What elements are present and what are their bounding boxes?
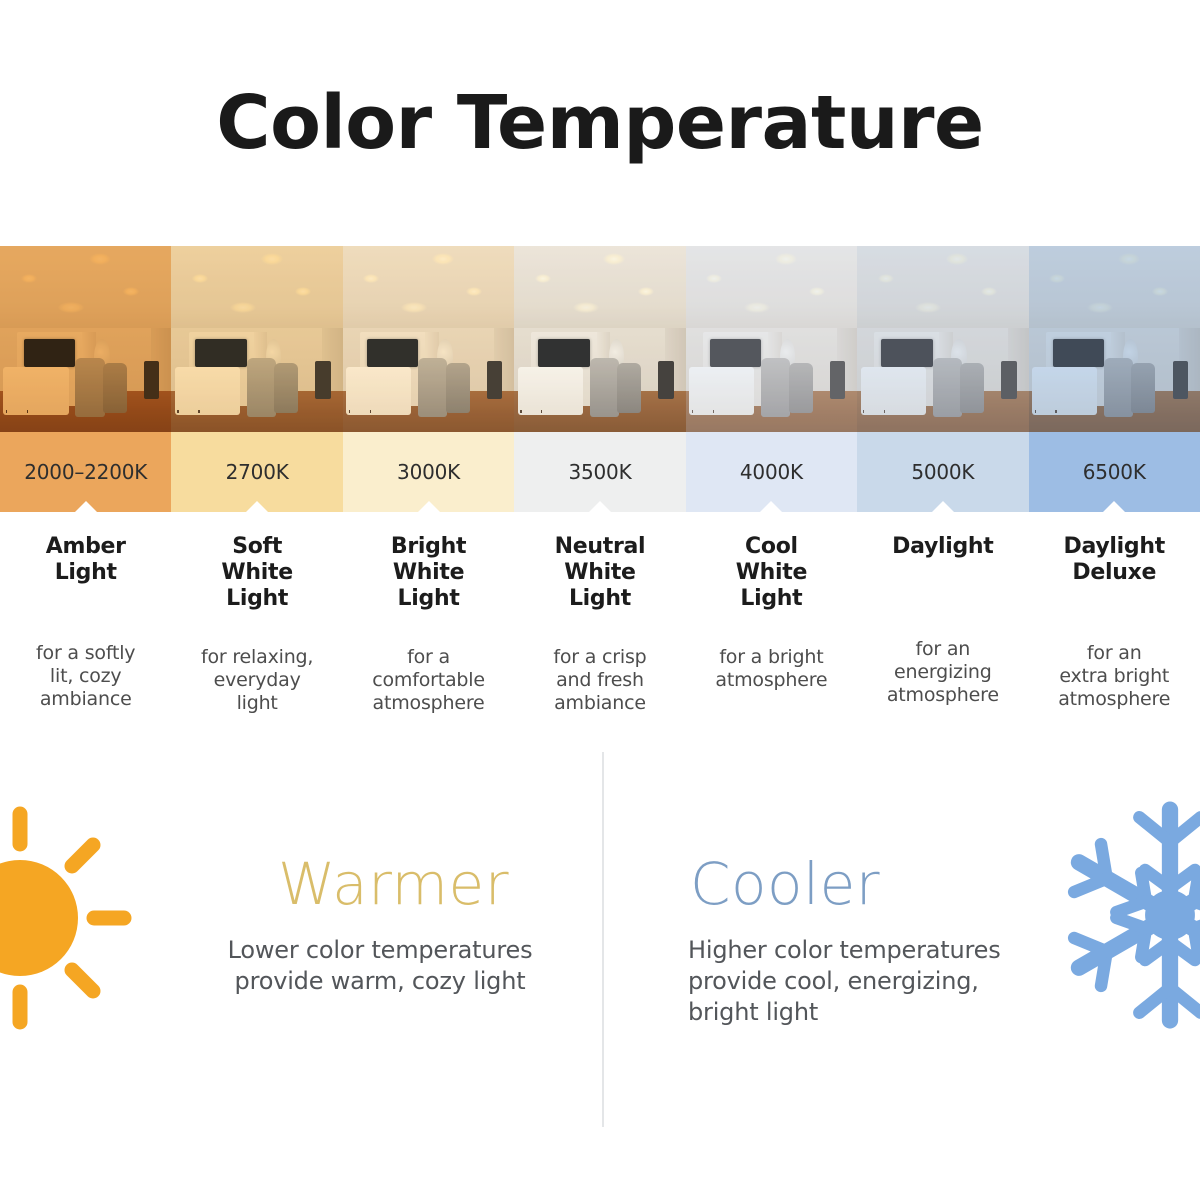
description-column: SoftWhiteLightfor relaxing,everydaylight [171, 512, 342, 750]
light-description-text: for acomfortableatmosphere [372, 646, 485, 716]
warmer-body-text: Lower color temperaturesprovide warm, co… [200, 935, 560, 997]
kelvin-swatch[interactable]: 2000–2200K [0, 432, 171, 512]
swatch-notch-marker [760, 501, 782, 512]
swatch-notch-marker [75, 501, 97, 512]
kelvin-label: 5000K [911, 460, 974, 484]
kelvin-swatch[interactable]: 6500K [1029, 432, 1200, 512]
kelvin-label: 2000–2200K [24, 460, 147, 484]
light-name-label: CoolWhiteLight [736, 534, 807, 612]
kelvin-label: 3500K [568, 460, 631, 484]
kelvin-swatch[interactable]: 3500K [514, 432, 685, 512]
kelvin-swatch[interactable]: 2700K [171, 432, 342, 512]
page-title: Color Temperature [216, 86, 983, 160]
description-column: Daylightfor anenergizingatmosphere [857, 512, 1028, 750]
kelvin-label: 3000K [397, 460, 460, 484]
room-photo-20002200K [0, 246, 171, 432]
light-name-label: SoftWhiteLight [221, 534, 292, 612]
description-column: CoolWhiteLightfor a brightatmosphere [686, 512, 857, 750]
light-description-text: for a softlylit, cozyambiance [36, 642, 135, 712]
description-column: NeutralWhiteLightfor a crispand freshamb… [514, 512, 685, 750]
description-column: AmberLightfor a softlylit, cozyambiance [0, 512, 171, 750]
kelvin-label: 6500K [1083, 460, 1146, 484]
light-name-label: NeutralWhiteLight [555, 534, 646, 612]
description-column: DaylightDeluxefor anextra brightatmosphe… [1029, 512, 1200, 750]
title-bar: Color Temperature [0, 0, 1200, 246]
room-photo-5000K [857, 246, 1028, 432]
room-photo-6500K [1029, 246, 1200, 432]
description-row: AmberLightfor a softlylit, cozyambianceS… [0, 512, 1200, 750]
room-photo-4000K [686, 246, 857, 432]
cooler-body-text: Higher color temperaturesprovide cool, e… [688, 935, 1048, 1029]
sun-icon [0, 800, 138, 1036]
light-name-label: BrightWhiteLight [391, 534, 466, 612]
kelvin-swatch[interactable]: 4000K [686, 432, 857, 512]
warmer-cooler-section: Warmer Lower color temperaturesprovide w… [0, 750, 1200, 1200]
kelvin-swatch[interactable]: 3000K [343, 432, 514, 512]
kelvin-swatch[interactable]: 5000K [857, 432, 1028, 512]
swatch-notch-marker [589, 501, 611, 512]
light-name-label: DaylightDeluxe [1064, 534, 1165, 586]
room-photo-strip [0, 246, 1200, 432]
light-description-text: for relaxing,everydaylight [201, 646, 313, 716]
swatch-notch-marker [932, 501, 954, 512]
light-description-text: for anextra brightatmosphere [1058, 642, 1170, 712]
room-photo-3000K [343, 246, 514, 432]
kelvin-swatch-band: 2000–2200K2700K3000K3500K4000K5000K6500K [0, 432, 1200, 512]
light-description-text: for a crispand freshambiance [553, 646, 646, 716]
kelvin-label: 4000K [740, 460, 803, 484]
snowflake-icon [1055, 795, 1200, 1035]
kelvin-label: 2700K [226, 460, 289, 484]
description-column: BrightWhiteLightfor acomfortableatmosphe… [343, 512, 514, 750]
swatch-notch-marker [246, 501, 268, 512]
light-description-text: for a brightatmosphere [715, 646, 827, 692]
light-name-label: AmberLight [46, 534, 126, 586]
room-photo-3500K [514, 246, 685, 432]
light-name-label: Daylight [892, 534, 993, 560]
light-description-text: for anenergizingatmosphere [887, 638, 999, 708]
swatch-notch-marker [1103, 501, 1125, 512]
room-photo-2700K [171, 246, 342, 432]
cooler-heading: Cooler [690, 855, 880, 913]
color-temperature-infographic: Color Temperature 2000–2200K2700K3000K35… [0, 0, 1200, 1200]
swatch-notch-marker [418, 501, 440, 512]
warmer-heading: Warmer [278, 855, 509, 913]
